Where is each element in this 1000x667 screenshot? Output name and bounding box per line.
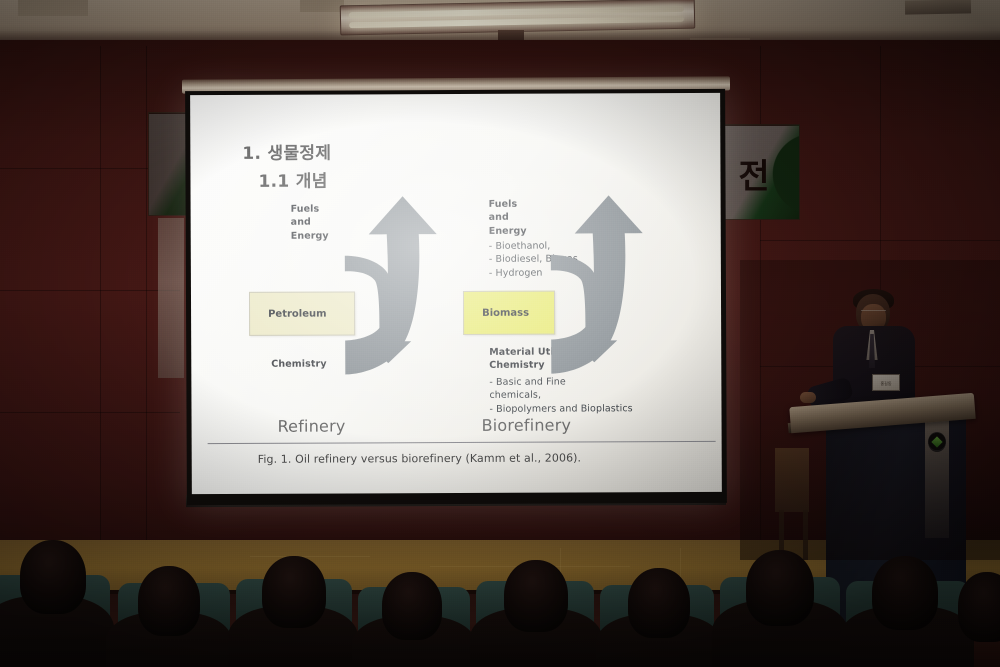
ceiling-patch <box>300 0 344 12</box>
audience-head <box>262 556 326 628</box>
floor-tile-line <box>250 556 370 557</box>
right-fork-arrows <box>547 193 668 416</box>
audience-head <box>628 568 690 638</box>
stool-leg <box>803 510 808 560</box>
petroleum-box: Petroleum <box>249 291 355 335</box>
auditorium-scene: 전 1. 생물정제 1.1 개념 Fuels and Energy Petrol… <box>0 0 1000 667</box>
projection-screen: 1. 생물정제 1.1 개념 Fuels and Energy Petroleu… <box>185 89 727 505</box>
right-section-label: Biorefinery <box>482 415 572 434</box>
left-top-label: Fuels and Energy <box>291 203 329 244</box>
left-section-label: Refinery <box>278 416 346 435</box>
right-top-label: Fuels and Energy <box>489 198 527 239</box>
ceiling-duct <box>905 0 971 15</box>
audience-head <box>382 572 442 640</box>
left-bottom-label: Chemistry <box>271 358 326 372</box>
slide-title: 1. 생물정제 <box>242 143 331 166</box>
audience-head <box>504 560 568 632</box>
audience-head <box>958 572 1000 642</box>
slide-caption: Fig. 1. Oil refinery versus biorefinery … <box>258 451 581 465</box>
wall-side-panel <box>158 218 184 378</box>
slide-subtitle: 1.1 개념 <box>258 167 327 192</box>
podium-diamond-logo-icon <box>928 432 946 452</box>
petroleum-box-label: Petroleum <box>268 308 327 319</box>
speaker-name-badge: 홍길동 <box>872 374 900 391</box>
biomass-box: Biomass <box>463 291 555 335</box>
audience-head <box>138 566 200 636</box>
ceiling-patch <box>18 0 88 16</box>
left-fork-arrows <box>341 194 462 417</box>
slide-divider-rule <box>208 441 716 444</box>
audience-head <box>746 550 814 626</box>
stool <box>775 448 809 512</box>
speaker-hand <box>800 392 816 403</box>
biomass-box-label: Biomass <box>482 307 529 318</box>
audience-head <box>20 540 86 614</box>
banner-right: 전 <box>722 124 800 220</box>
speaker-glasses-icon <box>861 310 886 315</box>
audience-head <box>872 556 938 630</box>
presentation-slide: 1. 생물정제 1.1 개념 Fuels and Energy Petroleu… <box>190 93 722 494</box>
